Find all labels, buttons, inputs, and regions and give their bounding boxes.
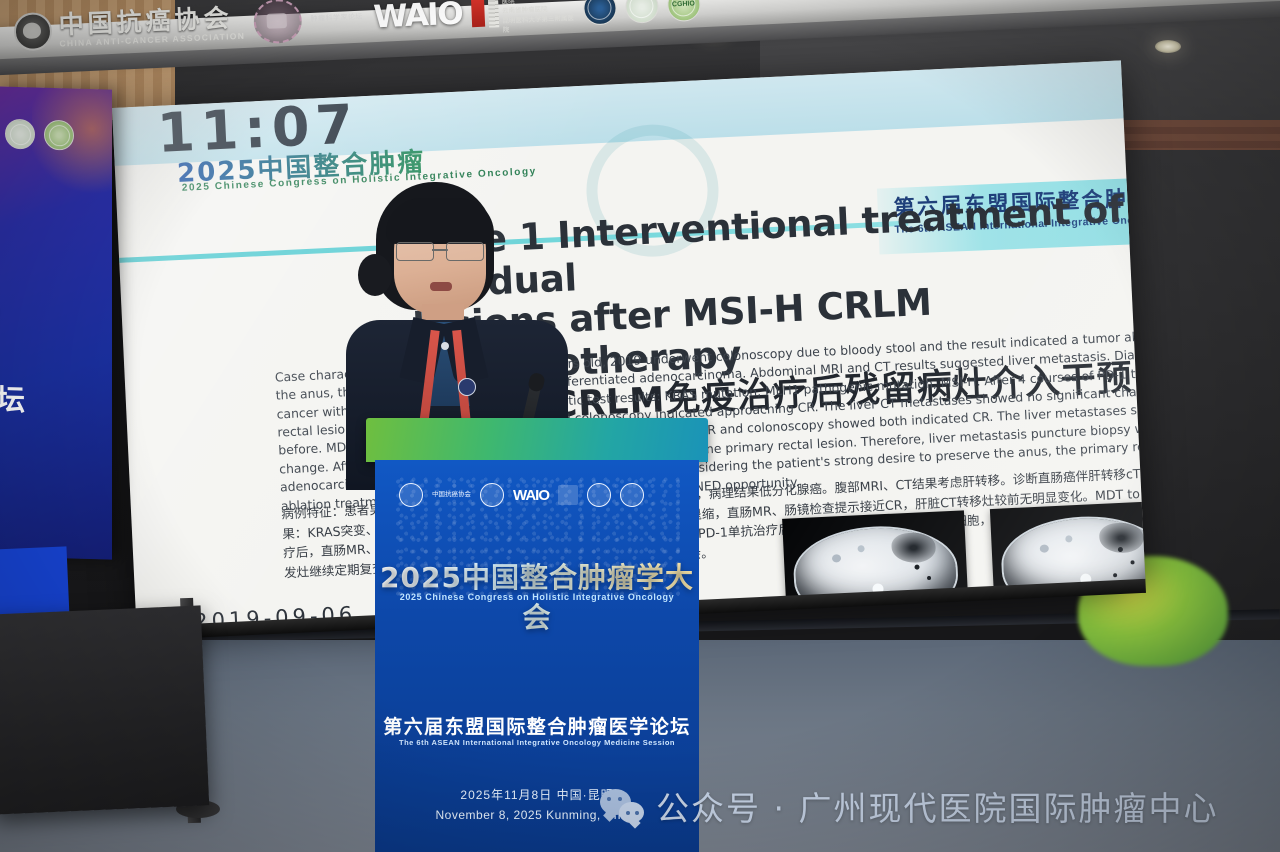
podium-seal-icon-3 <box>587 483 611 507</box>
podium-seal-icon-2 <box>480 483 504 507</box>
podium-forum-title-cn: 第六届东盟国际整合肿瘤医学论坛 <box>375 712 699 739</box>
monitor-blue-screen-edge <box>0 546 69 619</box>
conference-photo: 中国抗癌协会 CHINA ANTI-CANCER ASSOCIATION 肿瘤科… <box>0 0 1280 852</box>
waio-logo: WAIO <box>373 0 463 35</box>
university-seal-icon <box>582 0 616 25</box>
mouth <box>430 282 452 291</box>
banner-seal-icon-3 <box>44 120 74 151</box>
hospital-name-lines: 北京大学 肿瘤国际合作医院 云南省肿瘤医院 昆明医科大学第三附属医院 <box>501 0 575 35</box>
red-flag-icon <box>471 0 485 27</box>
hospital-line-3: 昆明医科大学第三附属医院 <box>502 14 575 36</box>
left-banner-seals <box>0 118 74 151</box>
podium-sponsor-box-1 <box>558 485 578 505</box>
podium-caca-seal-icon <box>399 483 423 507</box>
china-anti-cancer-association-logo: 中国抗癌协会 CHINA ANTI-CANCER ASSOCIATION <box>13 4 245 52</box>
hair-bun <box>358 254 392 296</box>
left-banner-subtitle-cn: 学论坛 <box>0 375 27 420</box>
cghio-seal-icon: CGHIO <box>666 0 700 22</box>
shirt-button <box>441 342 449 350</box>
banner-seal-icon-2 <box>5 119 35 150</box>
podium-top-surface <box>366 418 708 462</box>
left-banner-title-cn: 会 <box>0 280 2 345</box>
podium-waio-logo: WAIO <box>513 487 549 504</box>
podium-sponsor-row: 中国抗癌协会 WAIO <box>399 480 677 510</box>
cghio-mark: CGHIO <box>672 0 695 8</box>
wechat-watermark: 公众号 · 广州现代医院国际肿瘤中心 <box>600 782 1218 830</box>
ceiling-downlight <box>1155 40 1181 53</box>
hospital-tower-icon <box>487 0 498 28</box>
eyeglasses-icon <box>396 242 484 259</box>
caca-seal-icon <box>13 12 53 52</box>
podium-caca-label: 中国抗癌协会 <box>432 491 471 499</box>
hair-front <box>386 198 494 244</box>
expert-forum-label: 肿瘤科学家论坛 <box>310 14 364 25</box>
podium-seal-icon-4 <box>620 483 644 507</box>
watermark-text: 公众号 · 广州现代医院国际肿瘤中心 <box>656 782 1218 830</box>
forum-oval-logo-icon <box>253 0 303 44</box>
wechat-icon <box>600 789 644 823</box>
left-vertical-banner: 会 学论坛 ne Session <box>0 86 112 559</box>
left-banner-subtitle-en: ne Session <box>0 409 1 426</box>
institute-seal-icon <box>624 0 658 23</box>
hospital-logo: 北京大学 肿瘤国际合作医院 云南省肿瘤医院 昆明医科大学第三附属医院 <box>470 0 575 37</box>
confidence-monitor <box>0 605 209 814</box>
podium-congress-title-en: 2025 Chinese Congress on Holistic Integr… <box>375 592 699 602</box>
podium-forum-title-en: The 6th ASEAN International Integrative … <box>375 738 699 747</box>
name-badge <box>458 378 476 396</box>
